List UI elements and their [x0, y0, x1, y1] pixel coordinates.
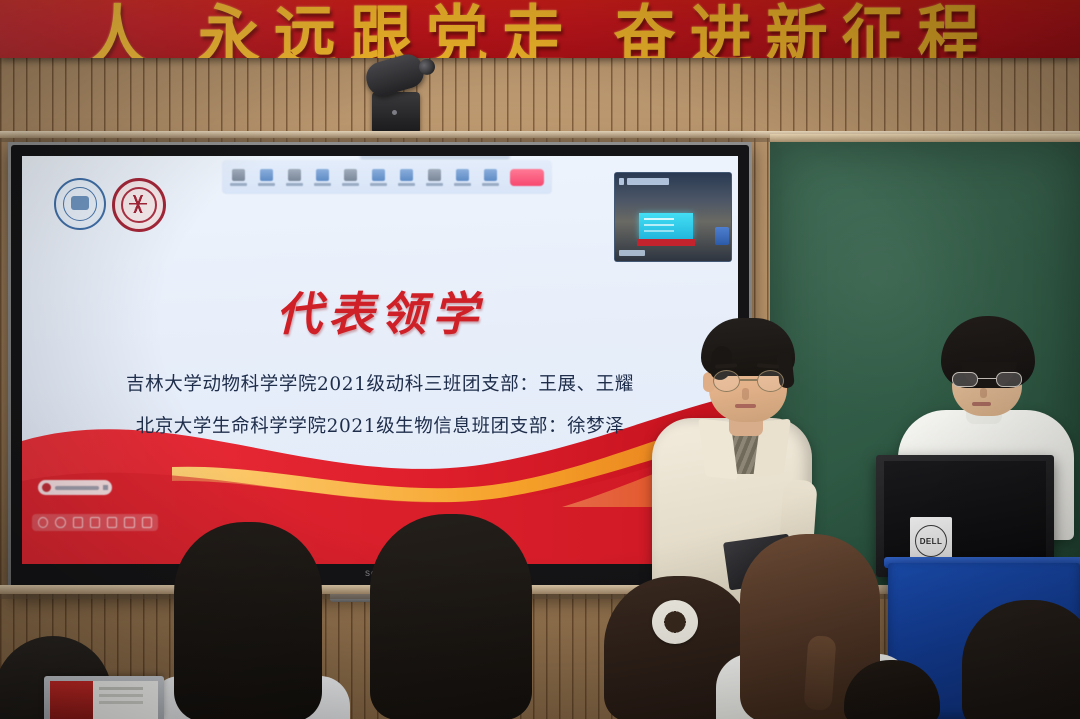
microphone-label [230, 183, 247, 186]
settings-button[interactable] [482, 169, 499, 186]
glasses-lens-left [713, 370, 740, 392]
monitor-screen[interactable] [884, 461, 1046, 567]
slide-line-2: 北京大学生命科学学院2021级生物信息班团支部：徐梦泽 [22, 412, 738, 438]
annotation-toolbar[interactable] [32, 514, 158, 531]
chip-close-icon[interactable] [103, 485, 108, 490]
presenter-right-glasses-icon [952, 372, 1024, 387]
record-icon [456, 169, 469, 181]
pen-tool-icon[interactable] [38, 517, 48, 528]
redo-tool-icon[interactable] [124, 517, 134, 528]
red-slogan-banner: 人 永远跟党走 奋进新征程 [0, 0, 1080, 58]
undo-tool-icon[interactable] [107, 517, 117, 528]
chat-button[interactable] [314, 169, 331, 186]
whiteboard-button[interactable] [398, 169, 415, 186]
share-screen-button[interactable] [370, 169, 387, 186]
glasses-lens-right [757, 370, 784, 392]
presenter-center-mouth [735, 404, 756, 408]
floating-status-chip[interactable] [38, 480, 112, 495]
eraser-tool-icon[interactable] [55, 517, 65, 528]
participant-footer-label [619, 248, 645, 257]
laptop-white-panel [93, 681, 158, 719]
more-button[interactable] [342, 169, 359, 186]
share-screen-label [370, 183, 387, 186]
audience-head-far-right [962, 600, 1080, 719]
participant-name-text [627, 178, 669, 185]
laptop-red-panel [50, 681, 93, 719]
slide-title: 代表领学 [22, 278, 738, 344]
settings-icon [484, 169, 497, 181]
annotation-icon [428, 169, 441, 181]
glasses-bridge [740, 379, 757, 381]
camera-icon [260, 169, 273, 181]
camera-lens [417, 57, 437, 77]
whiteboard-icon [400, 169, 413, 181]
whiteboard-label [398, 183, 415, 186]
chip-label [55, 486, 99, 490]
chat-icon [316, 169, 329, 181]
camera-led [392, 110, 397, 115]
close-tool-icon[interactable] [142, 517, 152, 528]
annotation-button[interactable] [426, 169, 443, 186]
participants-label [286, 183, 303, 186]
audience-ponytail [803, 635, 836, 711]
record-button[interactable] [454, 169, 471, 186]
glasses-bridge [978, 378, 996, 379]
slide-line-1: 吉林大学动物科学学院2021级动科三班团支部：王展、王耀 [22, 370, 738, 396]
participant-footer-text [619, 250, 645, 256]
audience-laptop-screen [50, 681, 158, 719]
more-icon [344, 169, 357, 181]
shape-tool-icon[interactable] [90, 517, 100, 528]
select-tool-icon[interactable] [73, 517, 83, 528]
participant-name-label [619, 176, 669, 187]
presenter-center-nose [742, 388, 749, 400]
presenter-right-nose [980, 388, 987, 398]
participant-mic-icon [619, 178, 624, 185]
settings-label [482, 183, 499, 186]
share-screen-icon [372, 169, 385, 181]
meeting-toolbar[interactable] [222, 160, 552, 194]
chat-label [314, 183, 331, 186]
smart-display-screen[interactable]: 代表领学 吉林大学动物科学学院2021级动科三班团支部：王展、王耀 北京大学生命… [22, 156, 738, 564]
glasses-lens-left [952, 372, 978, 387]
ceiling-camera-icon [352, 52, 438, 134]
participants-button[interactable] [286, 169, 303, 186]
microphone-icon [232, 169, 245, 181]
camera-label [258, 183, 275, 186]
classroom-scene: 人 永远跟党走 奋进新征程 [0, 0, 1080, 719]
audience-head-center-left [370, 514, 532, 719]
camera-button[interactable] [258, 169, 275, 186]
record-label [454, 183, 471, 186]
peking-university-seal-icon [112, 178, 166, 232]
remote-person [715, 227, 729, 245]
hair-scrunchie [652, 600, 698, 644]
annotation-label [426, 183, 443, 186]
end-meeting-button[interactable] [510, 169, 544, 186]
banner-text: 人 永远跟党走 奋进新征程 [0, 0, 1080, 58]
microphone-button[interactable] [230, 169, 247, 186]
presentation-slide: 代表领学 吉林大学动物科学学院2021级动科三班团支部：王展、王耀 北京大学生命… [22, 156, 738, 564]
more-label [342, 183, 359, 186]
dell-brand-icon: DELL [915, 525, 947, 557]
presenter-right-mouth [972, 402, 991, 406]
remote-screen [639, 213, 693, 239]
remote-podium [637, 239, 695, 246]
glasses-lens-right [996, 372, 1022, 387]
presenter-center-glasses-icon [711, 370, 787, 392]
audience-head-left [174, 522, 322, 719]
participants-icon [288, 169, 301, 181]
participant-video-thumbnail[interactable] [614, 172, 732, 262]
recording-indicator-icon [42, 483, 51, 492]
jilin-university-seal-icon [54, 178, 106, 230]
